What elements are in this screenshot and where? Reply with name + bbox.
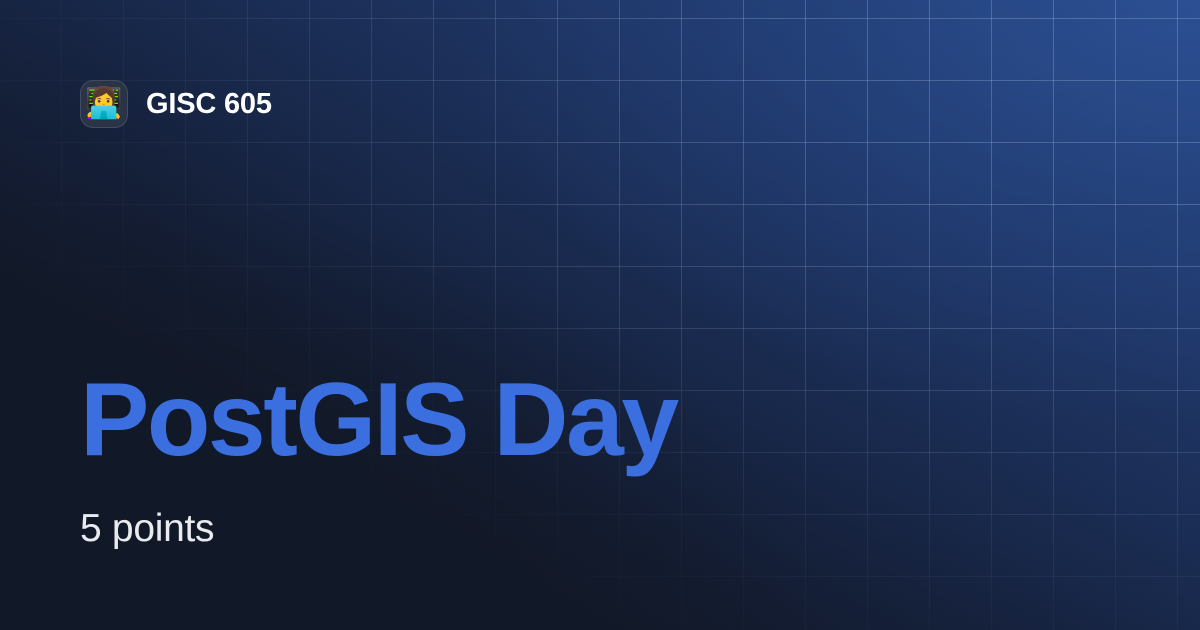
brand-header: 👩‍💻 GISC 605 bbox=[80, 80, 272, 128]
woman-technologist-icon: 👩‍💻 bbox=[80, 80, 128, 128]
card-content: 👩‍💻 GISC 605 PostGIS Day 5 points bbox=[0, 0, 1200, 630]
course-title: GISC 605 bbox=[146, 88, 272, 121]
points-label: 5 points bbox=[80, 472, 677, 551]
social-preview-card: 👩‍💻 GISC 605 PostGIS Day 5 points bbox=[0, 0, 1200, 630]
page-title: PostGIS Day bbox=[80, 368, 677, 472]
headline-block: PostGIS Day 5 points bbox=[80, 368, 677, 551]
